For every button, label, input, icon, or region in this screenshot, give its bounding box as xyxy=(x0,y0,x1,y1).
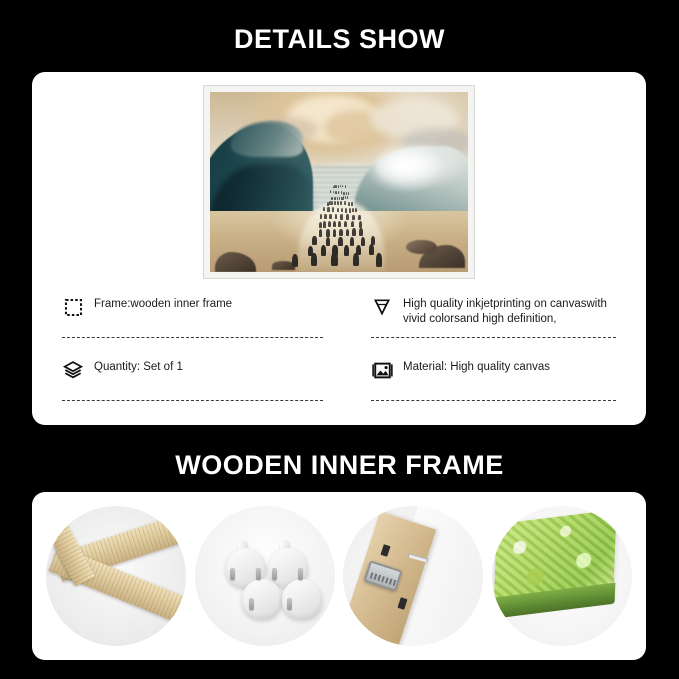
artwork-figure xyxy=(348,202,350,206)
artwork-figure xyxy=(352,228,356,236)
artwork-wave-foam xyxy=(375,142,463,189)
feature-cell-material: Material: High quality canvas xyxy=(339,357,616,401)
feature-label-line: High quality inkjetprinting on canvaswit… xyxy=(403,298,607,310)
feature-item: High quality inkjetprinting on canvaswit… xyxy=(371,294,616,328)
feature-label: High quality inkjetprinting on canvaswit… xyxy=(403,294,607,327)
artwork-figure xyxy=(358,215,361,220)
artwork-figure xyxy=(343,192,344,195)
feature-divider xyxy=(371,337,616,338)
frame-detail-card: wooden inner frame bars white plastic wa… xyxy=(32,492,646,660)
artwork-figure xyxy=(323,221,326,227)
feature-row-1: Frame:wooden inner frame High q xyxy=(62,294,616,338)
sawtooth-teeth xyxy=(369,572,396,586)
artwork-figure xyxy=(326,237,330,246)
artwork-figure xyxy=(344,245,349,256)
artwork-figure xyxy=(341,208,343,213)
feature-label: Frame:wooden inner frame xyxy=(94,294,232,312)
artwork-figure xyxy=(328,221,331,227)
product-detail-page: DETAILS SHOW xyxy=(0,0,679,679)
artwork-figure xyxy=(326,229,330,237)
artwork-figure xyxy=(333,191,334,194)
artwork-figure xyxy=(338,237,342,246)
artwork-figure xyxy=(331,197,333,200)
artwork-frame: Framed canvas art of the parting of the … xyxy=(204,86,474,278)
artwork-figure xyxy=(323,207,325,212)
thumbnail-sawtooth-hanger[interactable]: metal sawtooth hanger on frame xyxy=(343,506,483,646)
feature-item: Material: High quality canvas xyxy=(371,357,616,391)
hook-screw xyxy=(256,568,261,580)
artwork-figure xyxy=(369,244,374,255)
artwork-figure xyxy=(345,185,346,188)
artwork-figure xyxy=(352,208,354,213)
feature-cell-quantity: Quantity: Set of 1 xyxy=(62,357,339,401)
artwork-figure xyxy=(345,208,347,213)
artwork-figure xyxy=(352,215,355,220)
artwork-image: Framed canvas art of the parting of the … xyxy=(210,92,468,272)
artwork-figure xyxy=(333,229,337,237)
artwork-figure xyxy=(334,201,336,205)
artwork-figure xyxy=(340,214,343,219)
artwork-figure xyxy=(292,254,298,267)
artwork-figure xyxy=(335,214,338,219)
thumbnail-canvas-corner[interactable]: green canvas wrapped corner xyxy=(492,506,632,646)
feature-divider xyxy=(371,400,616,401)
feature-grid: Frame:wooden inner frame High q xyxy=(32,294,646,401)
artwork-figure xyxy=(319,229,323,237)
wall-hook xyxy=(242,579,282,619)
artwork-figure xyxy=(324,214,327,219)
artwork-figure xyxy=(350,237,354,246)
feature-divider xyxy=(62,337,323,338)
diamond-icon xyxy=(371,296,393,318)
feature-cell-frame: Frame:wooden inner frame xyxy=(62,294,339,338)
artwork-figure xyxy=(329,214,332,219)
artwork-figure xyxy=(331,253,337,266)
artwork-figure xyxy=(376,253,382,266)
artwork-figure xyxy=(346,214,349,219)
artwork-figure xyxy=(361,237,365,246)
artwork-rock xyxy=(406,240,437,254)
artwork-figure xyxy=(355,208,357,213)
feature-label: Quantity: Set of 1 xyxy=(94,357,183,375)
hook-screw xyxy=(272,568,277,580)
artwork-figure xyxy=(359,221,362,227)
page-title-details-show: DETAILS SHOW xyxy=(0,24,679,54)
artwork-figure xyxy=(311,253,317,266)
artwork-figure xyxy=(335,191,336,194)
picture-icon xyxy=(371,359,393,381)
feature-divider xyxy=(62,400,323,401)
artwork-figure xyxy=(349,208,351,213)
artwork-figure xyxy=(332,207,334,212)
details-card: Framed canvas art of the parting of the … xyxy=(32,72,646,425)
artwork-figure xyxy=(346,229,350,237)
artwork-figure xyxy=(351,202,353,206)
artwork-figure xyxy=(344,201,346,205)
page-title-wooden-inner-frame: WOODEN INNER FRAME xyxy=(0,450,679,480)
feature-label: Material: High quality canvas xyxy=(403,357,550,375)
feature-item: Frame:wooden inner frame xyxy=(62,294,323,328)
artwork-figure xyxy=(312,236,316,245)
artwork-figure xyxy=(333,221,336,227)
artwork-figure xyxy=(337,201,339,205)
artwork-figure xyxy=(340,201,342,205)
artwork-figure xyxy=(334,197,336,200)
thumbnail-plastic-hooks[interactable]: white plastic wall hooks xyxy=(195,506,335,646)
artwork-figure xyxy=(338,221,341,227)
feature-row-2: Quantity: Set of 1 xyxy=(62,357,616,401)
artwork-figure xyxy=(321,245,326,256)
feature-item: Quantity: Set of 1 xyxy=(62,357,323,391)
hook-screw xyxy=(230,568,235,580)
hook-screw xyxy=(298,568,303,580)
dashed-frame-icon xyxy=(62,296,84,318)
thumbnail-row: wooden inner frame bars white plastic wa… xyxy=(32,492,646,660)
artwork-figure xyxy=(327,207,329,212)
feature-row-spacer xyxy=(62,338,616,357)
artwork-figure xyxy=(320,214,323,219)
artwork-figure xyxy=(337,208,339,213)
feature-label-line: vivid colorsand high definition, xyxy=(403,313,556,325)
artwork-figure xyxy=(339,229,343,237)
artwork-figure xyxy=(319,222,322,228)
feature-cell-printing: High quality inkjetprinting on canvaswit… xyxy=(339,294,616,338)
thumbnail-wooden-bars[interactable]: wooden inner frame bars xyxy=(46,506,186,646)
layers-icon xyxy=(62,359,84,381)
artwork-figure xyxy=(359,228,363,236)
hook-screw xyxy=(287,598,292,610)
hook-screw xyxy=(249,598,254,610)
artwork-figure xyxy=(353,253,359,266)
